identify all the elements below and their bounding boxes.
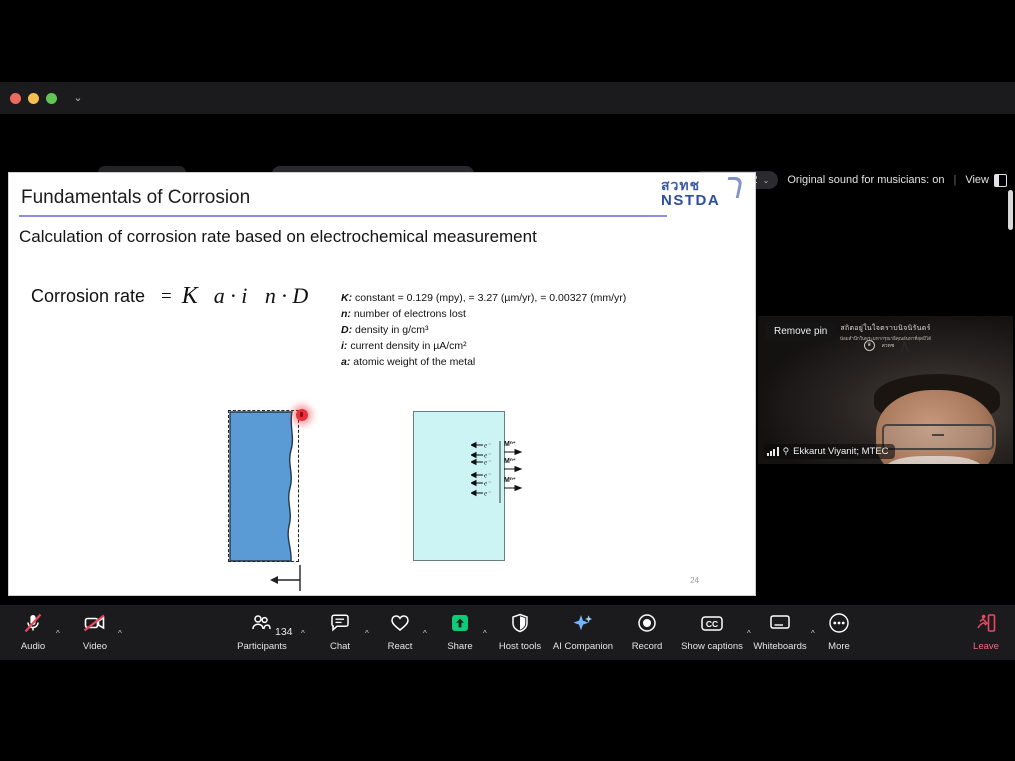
background-badges: ♛ สวทช [758,340,1013,351]
legend-row: a: atomic weight of the metal [341,355,626,371]
formula-denominator: n · D [259,283,314,308]
org-logo-icon: สวทช [882,342,895,350]
ion-row: Mn+ [504,458,521,471]
formula-legend: K: constant = 0.129 (mpy), = 3.27 (µm/yr… [341,291,626,371]
participants-options-caret[interactable]: ^ [301,629,305,638]
toolbar-label-show-captions: Show captions [681,641,743,652]
legend-symbol: D: [341,324,352,336]
svg-text:e⁻: e⁻ [484,441,492,449]
legend-row: n: number of electrons lost [341,307,626,323]
ion-row: Mn+ [504,441,521,454]
pin-icon: ⚲ [783,447,790,456]
electron-row: e⁻ [471,489,492,497]
toolbar-label-react: React [388,641,413,652]
toolbar-button-ai-companion[interactable]: AI Companion [552,611,614,652]
microphone-muted-icon [22,611,44,635]
participant-name: Ekkarut Viyanit; MTEC [793,446,888,457]
presenter-cursor-pointer [296,409,308,421]
close-window-button[interactable] [10,93,21,104]
legend-symbol: i: [341,340,347,352]
svg-text:e⁻: e⁻ [484,479,492,487]
divider: | [953,174,956,186]
formula-fraction: a · i n · D [208,284,315,309]
heart-icon [390,611,410,635]
slide-subtitle: Calculation of corrosion rate based on e… [19,227,537,247]
audio-options-caret[interactable]: ^ [56,629,60,638]
whiteboard-icon [769,611,791,635]
letterbox-bottom [0,660,1015,761]
toolbar-button-react[interactable]: React ^ [369,611,431,652]
video-options-caret[interactable]: ^ [118,629,122,638]
toolbar-button-participants[interactable]: Participants 134 ^ [231,611,293,652]
share-screen-icon [449,611,471,635]
slide-page-number: 24 [690,576,699,585]
toolbar-label-leave: Leave [973,641,999,652]
shield-icon [511,611,529,635]
cc-icon: CC [700,611,724,635]
participants-count: 134 [275,626,293,638]
toolbar-label-participants: Participants [237,641,287,652]
remove-pin-button[interactable]: Remove pin [765,322,836,341]
toolbar-button-chat[interactable]: Chat ^ [309,611,371,652]
electron-row: e⁻ [471,471,492,479]
toolbar-label-more: More [828,641,850,652]
more-horizontal-icon [828,611,850,635]
layout-icon [994,174,1007,187]
nstda-logo: สวทช NSTDA [661,179,741,215]
toolbar-button-leave[interactable]: Leave [955,611,1015,652]
electron-row: e⁻ [471,479,492,487]
signal-bars-icon [767,447,779,456]
svg-text:Mn+: Mn+ [504,458,516,465]
toolbar-button-share[interactable]: Share ^ [429,611,491,652]
svg-text:e⁻: e⁻ [484,489,492,497]
original-sound-status[interactable]: Original sound for musicians: on [787,174,944,186]
record-icon [637,611,657,635]
react-options-caret[interactable]: ^ [423,629,427,638]
toolbar-button-host-tools[interactable]: Host tools [489,611,551,652]
svg-text:e⁻: e⁻ [484,471,492,479]
formula-constant: K [182,283,198,310]
mourning-ribbon-icon [901,341,907,351]
svg-text:e⁻: e⁻ [484,458,492,466]
electron-row: e⁻ [471,458,492,466]
view-button[interactable]: View [965,174,1007,187]
toolbar-label-ai-companion: AI Companion [553,641,613,652]
shared-screen-scrollbar[interactable] [1008,190,1013,230]
window-controls[interactable] [10,93,57,104]
legend-text: number of electrons lost [354,308,466,320]
toolbar-button-show-captions[interactable]: CC Show captions ^ [681,611,743,652]
toolbar-label-audio: Audio [21,641,45,652]
legend-symbol: n: [341,308,351,320]
legend-symbol: a: [341,356,350,368]
participant-name-badge: ⚲ Ekkarut Viyanit; MTEC [764,444,895,459]
maximize-window-button[interactable] [46,93,57,104]
chevron-down-icon[interactable]: ⌄ [72,92,84,104]
toolbar-button-video[interactable]: Video ^ [64,611,126,652]
person-glasses [882,424,994,450]
svg-text:Mn+: Mn+ [504,441,516,448]
electron-ion-reaction-diagram: e⁻ e⁻ e⁻ e⁻ e⁻ e⁻ [471,441,533,507]
share-options-caret[interactable]: ^ [483,629,487,638]
sparkle-icon [572,611,594,635]
legend-row: i: current density in µA/cm² [341,339,626,355]
chevron-down-icon[interactable]: ⌄ [763,176,770,185]
letterbox-top [0,0,1015,82]
original-surface-outline [228,410,299,562]
legend-text: density in g/cm³ [355,324,429,336]
corrosion-rate-formula: Corrosion rate = K a · i n · D [31,283,314,310]
leave-door-icon [975,611,997,635]
legend-text: current density in µA/cm² [350,340,466,352]
ion-row: Mn+ [504,477,521,490]
slide-title: Fundamentals of Corrosion [21,187,250,209]
chat-bubble-icon [330,611,350,635]
zoom-meeting-window: ⌄ Meeting rv Ekkarut Viyanit; ...'s scre… [0,0,1015,761]
view-button-label: View [965,174,989,186]
formula-equals: = [161,286,172,308]
toolbar-label-chat: Chat [330,641,350,652]
toolbar-button-record[interactable]: Record [616,611,678,652]
camera-muted-icon [83,611,107,635]
toolbar-button-audio[interactable]: Audio ^ [2,611,64,652]
toolbar-label-whiteboards: Whiteboards [753,641,806,652]
toolbar-label-share: Share [447,641,472,652]
crown-emblem-icon: ♛ [864,340,875,351]
legend-row: D: density in g/cm³ [341,323,626,339]
electron-row: e⁻ [471,441,492,449]
legend-text: atomic weight of the metal [353,356,475,368]
participants-icon [251,611,273,635]
minimize-window-button[interactable] [28,93,39,104]
presentation-slide: Fundamentals of Corrosion สวทช NSTDA Cal… [9,173,755,595]
toolbar-button-more[interactable]: More [808,611,870,652]
title-bar: ⌄ Meeting rv Ekkarut Viyanit; ...'s scre… [0,82,1015,114]
formula-numerator: a · i [208,283,254,308]
legend-symbol: K: [341,292,352,304]
speaker-video-thumbnail[interactable]: สถิตอยู่ในใจตราบนิจนิรันดร์ น้อมสำนึกในพ… [758,316,1013,464]
toolbar-label-video: Video [83,641,107,652]
toolbar-label-record: Record [632,641,663,652]
meeting-toolbar: Audio ^ Video ^ [0,605,1015,660]
title-divider [19,215,667,217]
toolbar-button-whiteboards[interactable]: Whiteboards ^ [749,611,811,652]
legend-row: K: constant = 0.129 (mpy), = 3.27 (µm/yr… [341,291,626,307]
svg-text:CC: CC [706,619,718,629]
formula-lhs: Corrosion rate [31,286,145,307]
metal-loss-arrow [264,565,306,593]
svg-text:Mn+: Mn+ [504,477,516,484]
toolbar-label-host-tools: Host tools [499,641,541,652]
legend-text: constant = 0.129 (mpy), = 3.27 (µm/yr), … [355,292,626,304]
shared-screen-content: Fundamentals of Corrosion สวทช NSTDA Cal… [8,172,756,596]
